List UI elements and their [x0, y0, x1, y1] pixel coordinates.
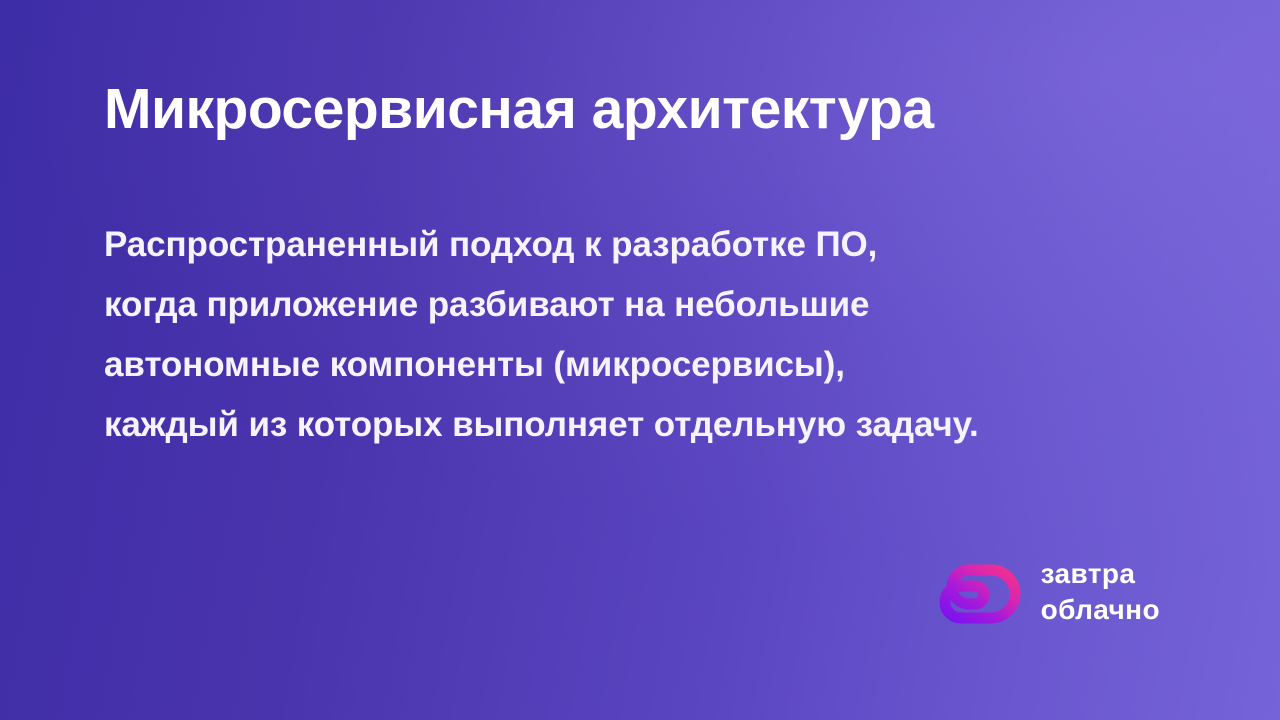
brand-logo: завтра облачно: [939, 556, 1160, 628]
slide-body-text: Распространенный подход к разработке ПО,…: [104, 215, 1194, 455]
brand-wordmark-line-2: облачно: [1041, 592, 1160, 628]
loop-mark-icon: [939, 558, 1025, 626]
body-line: каждый из которых выполняет отдельную за…: [104, 395, 1194, 455]
body-line: автономные компоненты (микросервисы),: [104, 335, 1194, 395]
brand-wordmark-line-1: завтра: [1041, 556, 1160, 592]
body-line: когда приложение разбивают на небольшие: [104, 275, 1194, 335]
slide-canvas: Микросервисная архитектура Распространен…: [0, 0, 1280, 720]
body-line: Распространенный подход к разработке ПО,: [104, 215, 1194, 275]
page-title: Микросервисная архитектура: [104, 79, 934, 141]
brand-wordmark: завтра облачно: [1041, 556, 1160, 628]
